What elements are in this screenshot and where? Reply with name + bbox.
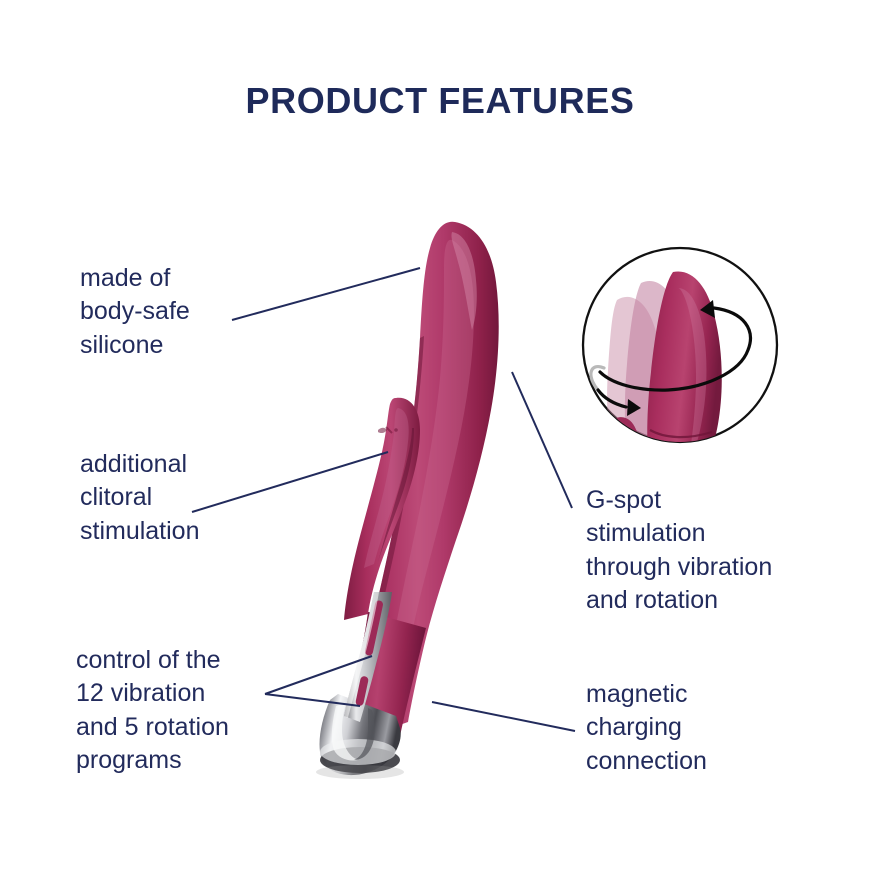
inset-nub-highlight bbox=[619, 426, 631, 492]
leader-gspot bbox=[512, 372, 572, 508]
callout-gspot-stimulation: G-spot stimulation through vibration and… bbox=[586, 484, 846, 617]
callout-additional-clitoral-stimulation: additional clitoral stimulation bbox=[80, 448, 320, 548]
leader-magnetic bbox=[432, 702, 575, 731]
callout-made-of-body-safe-silicone: made of body-safe silicone bbox=[80, 262, 310, 362]
product-body bbox=[316, 222, 499, 779]
callout-magnetic-charging-connection: magnetic charging connection bbox=[586, 678, 836, 778]
product-features-infographic: PRODUCT FEATURES bbox=[0, 0, 880, 880]
callout-control-of-programs: control of the 12 vibration and 5 rotati… bbox=[76, 644, 336, 777]
